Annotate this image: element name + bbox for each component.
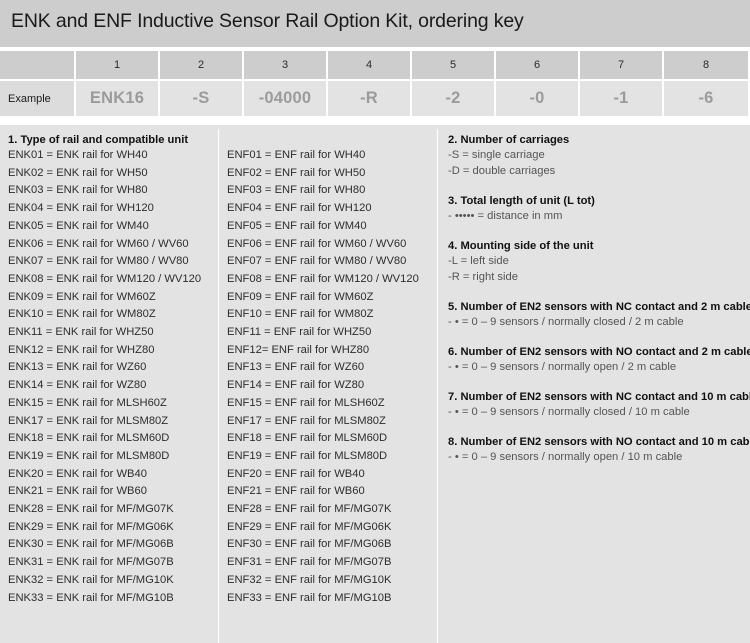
option-section-gap (448, 285, 744, 300)
list-item: ENK33 = ENK rail for MF/MG10B (8, 590, 216, 608)
list-item: ENK08 = ENK rail for WM120 / WV120 (8, 271, 216, 289)
header-cell-6: 6 (496, 51, 578, 79)
list-item: ENK01 = ENK rail for WH40 (8, 147, 216, 165)
header-cell-7: 7 (580, 51, 662, 79)
column-number: 2 (198, 59, 204, 71)
option-section-heading: 7. Number of EN2 sensors with NC contact… (448, 390, 744, 404)
list-item: ENK18 = ENK rail for MLSM60D (8, 430, 216, 448)
list-item: ENK17 = ENK rail for MLSM80Z (8, 413, 216, 431)
option-section-line: -R = right side (448, 269, 744, 285)
example-value: -S (193, 89, 210, 108)
option-sections-list: 2. Number of carriages-S = single carria… (448, 133, 744, 465)
example-cell-4: -R (328, 81, 410, 116)
list-item: ENK29 = ENK rail for MF/MG06K (8, 519, 216, 537)
example-cell-6: -0 (496, 81, 578, 116)
option-section-heading: 6. Number of EN2 sensors with NO contact… (448, 345, 744, 359)
ordering-key-page: ENK and ENF Inductive Sensor Rail Option… (0, 0, 750, 643)
list-item: ENK05 = ENK rail for WM40 (8, 218, 216, 236)
column-divider-left (218, 129, 219, 643)
list-item: ENF04 = ENF rail for WH120 (227, 200, 435, 218)
option-section-line: - • = 0 – 9 sensors / normally closed / … (448, 314, 744, 330)
option-section-gap (448, 224, 744, 239)
option-section-line: -D = double carriages (448, 163, 744, 179)
list-item: ENF19 = ENF rail for MLSM80D (227, 448, 435, 466)
title-band: ENK and ENF Inductive Sensor Rail Option… (0, 0, 750, 47)
header-cell-blank (0, 51, 74, 79)
list-item: ENK30 = ENK rail for MF/MG06B (8, 536, 216, 554)
list-item: ENK14 = ENK rail for WZ80 (8, 377, 216, 395)
option-section-line: - • = 0 – 9 sensors / normally closed / … (448, 404, 744, 420)
list-item: ENK31 = ENK rail for MF/MG07B (8, 554, 216, 572)
list-item: ENK03 = ENK rail for WH80 (8, 182, 216, 200)
column-number: 3 (282, 59, 288, 71)
option-section: 7. Number of EN2 sensors with NC contact… (448, 390, 744, 420)
list-item: ENF33 = ENF rail for MF/MG10B (227, 590, 435, 608)
list-item: ENF12= ENF rail for WHZ80 (227, 342, 435, 360)
column-number: 1 (114, 59, 120, 71)
list-item: ENK09 = ENK rail for WM60Z (8, 289, 216, 307)
list-item: ENF14 = ENF rail for WZ80 (227, 377, 435, 395)
list-item: ENF28 = ENF rail for MF/MG07K (227, 501, 435, 519)
list-item: ENF07 = ENF rail for WM80 / WV80 (227, 253, 435, 271)
example-cell-3: -04000 (244, 81, 326, 116)
list-item: ENK12 = ENK rail for WHZ80 (8, 342, 216, 360)
example-cell-2: -S (160, 81, 242, 116)
example-row-label: Example (0, 81, 74, 116)
option-section: 6. Number of EN2 sensors with NO contact… (448, 345, 744, 375)
list-item: ENK28 = ENK rail for MF/MG07K (8, 501, 216, 519)
page-title: ENK and ENF Inductive Sensor Rail Option… (11, 10, 524, 33)
list-item: ENF05 = ENF rail for WM40 (227, 218, 435, 236)
column-number: 4 (366, 59, 372, 71)
list-item: ENK20 = ENK rail for WB40 (8, 466, 216, 484)
option-section-gap (448, 330, 744, 345)
list-item: ENF17 = ENF rail for MLSM80Z (227, 413, 435, 431)
option-section-heading: 8. Number of EN2 sensors with NO contact… (448, 435, 744, 449)
option-section-heading: 2. Number of carriages (448, 133, 744, 147)
example-cell-8: -6 (664, 81, 748, 116)
list-item: ENF21 = ENF rail for WB60 (227, 483, 435, 501)
list-item: ENF08 = ENF rail for WM120 / WV120 (227, 271, 435, 289)
list-item: ENF15 = ENF rail for MLSH60Z (227, 395, 435, 413)
list-item: ENF31 = ENF rail for MF/MG07B (227, 554, 435, 572)
list-item: ENK19 = ENK rail for MLSM80D (8, 448, 216, 466)
header-cell-2: 2 (160, 51, 242, 79)
column-number: 7 (618, 59, 624, 71)
option-section-line: - • = 0 – 9 sensors / normally open / 10… (448, 449, 744, 465)
list-item: ENK11 = ENK rail for WHZ50 (8, 324, 216, 342)
legend-content-area: 1. Type of rail and compatible unit ENK0… (0, 125, 750, 643)
option-section-gap (448, 375, 744, 390)
option-section-heading: 5. Number of EN2 sensors with NC contact… (448, 300, 744, 314)
list-item: ENF29 = ENF rail for MF/MG06K (227, 519, 435, 537)
option-section-line: -L = left side (448, 253, 744, 269)
option-section-line: -S = single carriage (448, 147, 744, 163)
list-item: ENF10 = ENF rail for WM80Z (227, 306, 435, 324)
options-column: 2. Number of carriages-S = single carria… (448, 125, 744, 465)
list-item: ENF11 = ENF rail for WHZ50 (227, 324, 435, 342)
list-item: ENF20 = ENF rail for WB40 (227, 466, 435, 484)
list-item: ENF30 = ENF rail for MF/MG06B (227, 536, 435, 554)
list-item: ENK06 = ENK rail for WM60 / WV60 (8, 236, 216, 254)
list-item: ENF32 = ENF rail for MF/MG10K (227, 572, 435, 590)
example-cell-1: ENK16 (76, 81, 158, 116)
table-example-row: Example ENK16 -S -04000 -R -2 -0 -1 -6 (0, 81, 750, 116)
example-value: -04000 (259, 89, 312, 108)
enf-item-list: ENF01 = ENF rail for WH40ENF02 = ENF rai… (227, 147, 435, 607)
list-item: ENF02 = ENF rail for WH50 (227, 165, 435, 183)
list-item: ENK15 = ENK rail for MLSH60Z (8, 395, 216, 413)
option-section-line: - ••••• = distance in mm (448, 208, 744, 224)
option-section: 4. Mounting side of the unit-L = left si… (448, 239, 744, 285)
list-item: ENF01 = ENF rail for WH40 (227, 147, 435, 165)
option-section: 2. Number of carriages-S = single carria… (448, 133, 744, 179)
list-item: ENF03 = ENF rail for WH80 (227, 182, 435, 200)
example-cell-5: -2 (412, 81, 494, 116)
section-1-enf-column: ENF01 = ENF rail for WH40ENF02 = ENF rai… (227, 125, 435, 607)
example-value: -2 (445, 89, 460, 108)
list-item: ENF06 = ENF rail for WM60 / WV60 (227, 236, 435, 254)
table-header-row: 1 2 3 4 5 6 7 8 (0, 51, 750, 79)
header-cell-4: 4 (328, 51, 410, 79)
list-item: ENF13 = ENF rail for WZ60 (227, 359, 435, 377)
list-item: ENK04 = ENK rail for WH120 (8, 200, 216, 218)
column-number: 5 (450, 59, 456, 71)
section-1-enk-column: 1. Type of rail and compatible unit ENK0… (8, 125, 216, 607)
example-label-text: Example (8, 93, 51, 105)
column-divider-right (437, 129, 438, 643)
list-item: ENK02 = ENK rail for WH50 (8, 165, 216, 183)
option-section: 5. Number of EN2 sensors with NC contact… (448, 300, 744, 330)
header-cell-3: 3 (244, 51, 326, 79)
option-section-line: - • = 0 – 9 sensors / normally open / 2 … (448, 359, 744, 375)
example-value: -0 (529, 89, 544, 108)
list-item: ENK21 = ENK rail for WB60 (8, 483, 216, 501)
column-number: 6 (534, 59, 540, 71)
example-value: -R (360, 89, 378, 108)
ordering-key-table: 1 2 3 4 5 6 7 8 Example ENK16 -S -04000 … (0, 51, 750, 116)
option-section-heading: 3. Total length of unit (L tot) (448, 194, 744, 208)
list-item: ENF18 = ENF rail for MLSM60D (227, 430, 435, 448)
option-section: 8. Number of EN2 sensors with NO contact… (448, 435, 744, 465)
header-cell-5: 5 (412, 51, 494, 79)
option-section: 3. Total length of unit (L tot)- ••••• =… (448, 194, 744, 224)
enk-item-list: ENK01 = ENK rail for WH40ENK02 = ENK rai… (8, 147, 216, 607)
section-1-heading: 1. Type of rail and compatible unit (8, 133, 216, 147)
header-cell-8: 8 (664, 51, 748, 79)
option-section-heading: 4. Mounting side of the unit (448, 239, 744, 253)
list-item: ENK10 = ENK rail for WM80Z (8, 306, 216, 324)
example-value: ENK16 (90, 89, 144, 108)
example-value: -6 (698, 89, 713, 108)
option-section-gap (448, 420, 744, 435)
list-item: ENF09 = ENF rail for WM60Z (227, 289, 435, 307)
list-item: ENK32 = ENK rail for MF/MG10K (8, 572, 216, 590)
option-section-gap (448, 179, 744, 194)
list-item: ENK07 = ENK rail for WM80 / WV80 (8, 253, 216, 271)
header-cell-1: 1 (76, 51, 158, 79)
example-cell-7: -1 (580, 81, 662, 116)
list-item: ENK13 = ENK rail for WZ60 (8, 359, 216, 377)
example-value: -1 (613, 89, 628, 108)
column-number: 8 (703, 59, 709, 71)
